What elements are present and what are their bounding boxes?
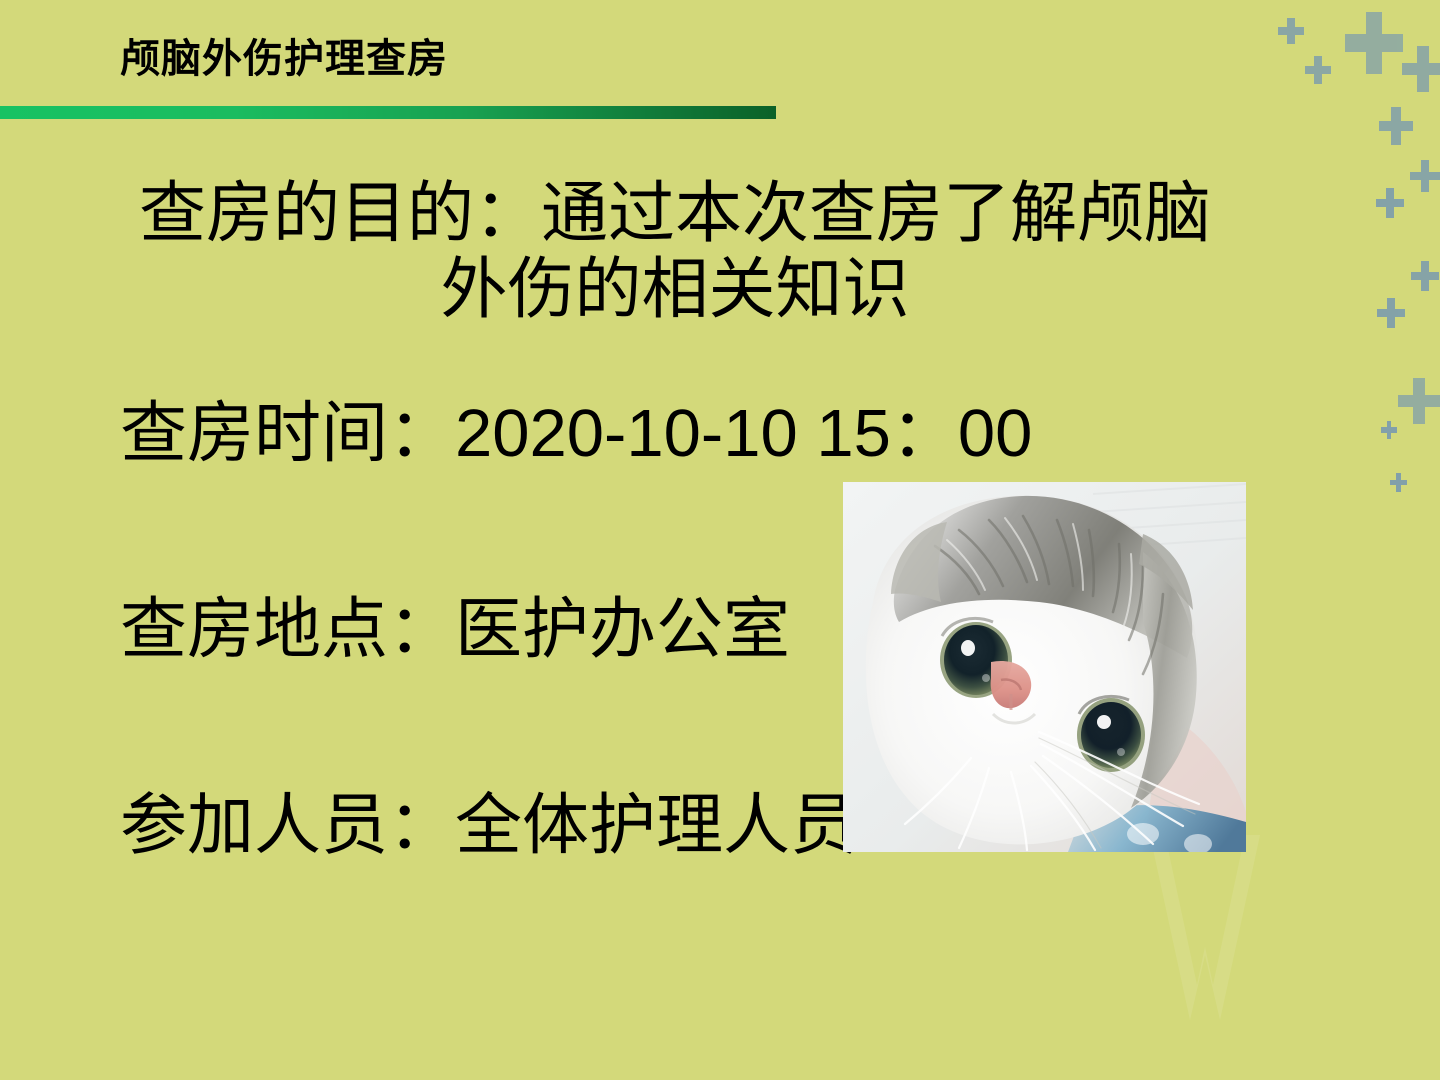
- plus-icon: [1376, 188, 1404, 218]
- plus-icon: [1381, 421, 1397, 439]
- title-underline-rule: [0, 106, 776, 119]
- slide-canvas: 颅脑外伤护理查房 查房的目的：通过本次查房了解颅脑外伤的相关知识 查房时间：20…: [0, 0, 1440, 1080]
- kitten-photo: [843, 482, 1246, 852]
- plus-icon: [1390, 473, 1407, 492]
- time-text: 查房时间：2020-10-10 15：00: [120, 396, 1032, 472]
- purpose-text: 查房的目的：通过本次查房了解颅脑外伤的相关知识: [110, 176, 1240, 329]
- plus-icon: [1411, 261, 1439, 291]
- plus-icon: [1377, 298, 1405, 328]
- slide-title: 颅脑外伤护理查房: [120, 36, 448, 82]
- plus-icon: [1379, 107, 1413, 145]
- plus-icon: [1410, 160, 1440, 192]
- plus-icon: [1305, 56, 1331, 84]
- plus-icon: [1402, 46, 1440, 92]
- plus-icon: [1398, 378, 1440, 424]
- people-text: 参加人员：全体护理人员: [120, 788, 857, 864]
- watermark-shape: [1055, 835, 1355, 1080]
- place-text: 查房地点：医护办公室: [120, 592, 790, 668]
- plus-icon: [1345, 12, 1403, 74]
- plus-icon: [1278, 18, 1304, 44]
